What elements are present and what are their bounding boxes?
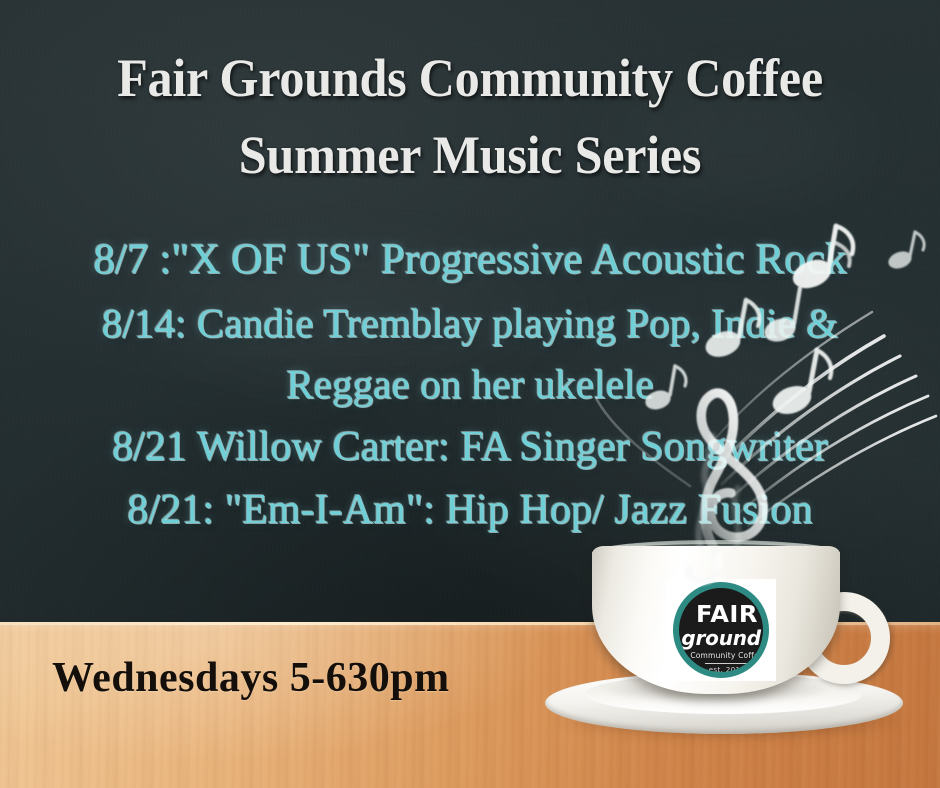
table-edge-highlight <box>0 622 940 625</box>
event-schedule-list: 8/7 :"X OF US" Progressive Acoustic Rock… <box>0 228 940 542</box>
title-line-2: Summer Music Series <box>33 117 907 194</box>
schedule-line-1: 8/7 :"X OF US" Progressive Acoustic Rock <box>0 228 940 293</box>
schedule-tagline: Wednesdays 5-630pm <box>52 654 450 702</box>
wooden-table <box>0 622 940 788</box>
schedule-line-3: Reggae on her ukelele <box>0 354 940 416</box>
page-title: Fair Grounds Community Coffee Summer Mus… <box>33 40 907 193</box>
schedule-line-5: 8/21: "Em-I-Am": Hip Hop/ Jazz Fusion <box>0 479 940 542</box>
title-line-1: Fair Grounds Community Coffee <box>33 40 907 117</box>
schedule-line-4: 8/21 Willow Carter: FA Singer Songwriter <box>0 416 940 479</box>
poster-canvas: Fair Grounds Community Coffee Summer Mus… <box>0 0 940 788</box>
table-sheen <box>0 622 940 788</box>
schedule-line-2: 8/14: Candie Tremblay playing Pop, Indie… <box>0 293 940 355</box>
